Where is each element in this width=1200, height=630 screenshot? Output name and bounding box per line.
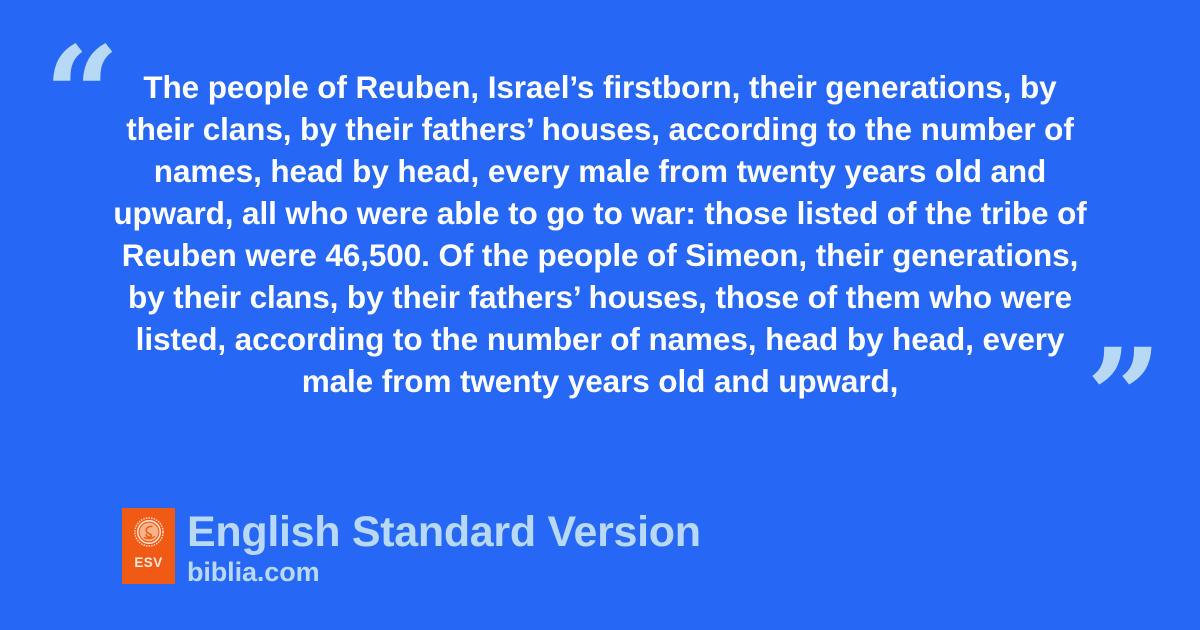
quote-text: The people of Reuben, Israel’s firstborn…: [108, 66, 1092, 402]
attribution[interactable]: ESV English Standard Version biblia.com: [122, 508, 701, 587]
bible-version-name: English Standard Version: [187, 509, 701, 555]
site-name-link[interactable]: biblia.com: [187, 557, 701, 587]
quote-block: The people of Reuben, Israel’s firstborn…: [108, 66, 1092, 402]
esv-circular-seal-icon: [134, 517, 164, 547]
quote-card: “ The people of Reuben, Israel’s firstbo…: [0, 0, 1200, 630]
esv-logo[interactable]: ESV: [122, 508, 175, 584]
closing-quote-icon: ”: [1086, 332, 1162, 464]
esv-logo-label: ESV: [134, 556, 162, 570]
attribution-text: English Standard Version biblia.com: [187, 508, 701, 587]
